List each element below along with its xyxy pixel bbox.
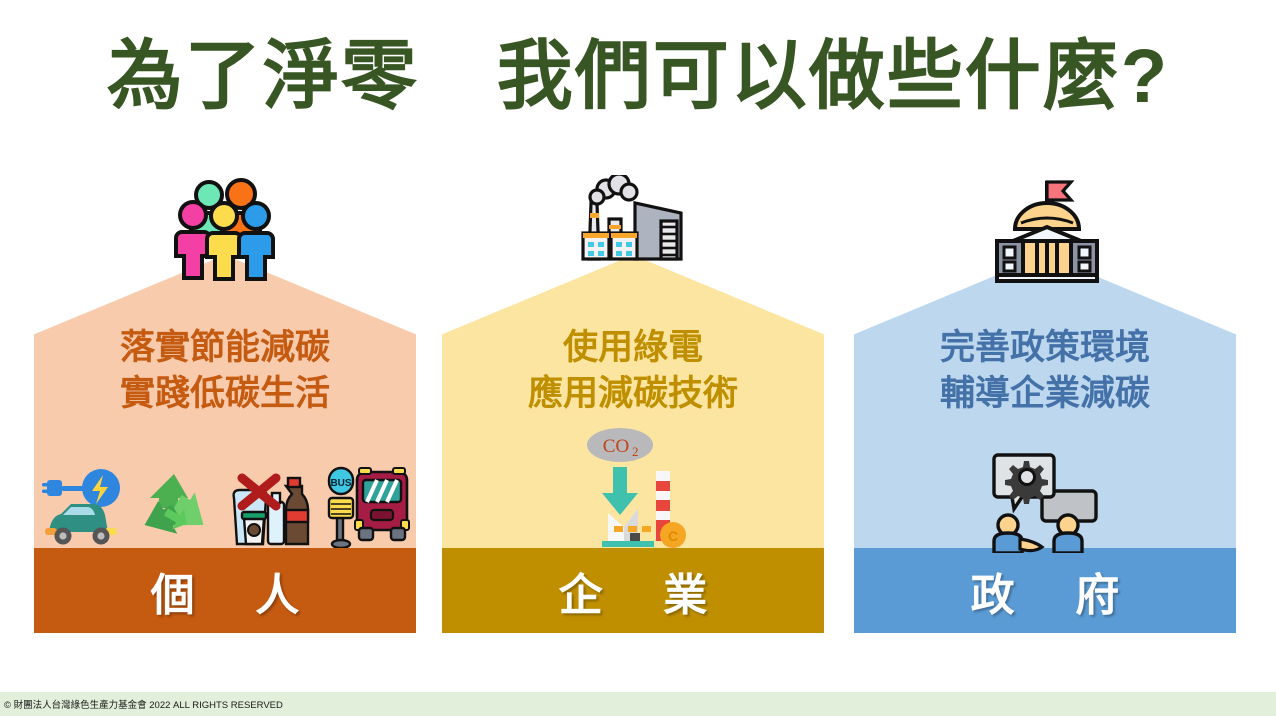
recycling-icon	[134, 468, 214, 548]
svg-text:C: C	[668, 528, 678, 544]
capitol-building-icon	[985, 175, 1105, 283]
bar-individual: 個 人	[34, 548, 416, 633]
svg-text:BUS: BUS	[331, 478, 352, 489]
consultation-gear-icon	[984, 449, 1106, 553]
svg-text:CO: CO	[603, 436, 629, 457]
headline-government: 完善政策環境 輔導企業減碳	[854, 325, 1236, 416]
column-government: 完善政策環境 輔導企業減碳 政 府	[854, 175, 1236, 633]
bar-label-individual: 個 人	[126, 559, 323, 623]
headline-enterprise: 使用綠電 應用減碳技術	[442, 325, 824, 416]
electric-car-charging-icon	[39, 466, 125, 548]
headline-individual: 落實節能減碳 實踐低碳生活	[34, 325, 416, 416]
slide-canvas: 為了淨零 我們可以做些什麼? 落實節能減碳	[0, 0, 1276, 716]
co2-reduction-factory-icon: CO 2 C	[568, 425, 698, 553]
page-title: 為了淨零 我們可以做些什麼?	[0, 36, 1276, 118]
people-group-icon	[165, 175, 285, 283]
footer-bar: © 財團法人台灣綠色生產力基金會 2022 ALL RIGHTS RESERVE…	[0, 692, 1276, 716]
bar-label-enterprise: 企 業	[534, 559, 731, 623]
factory-smokestack-icon	[573, 175, 693, 283]
svg-text:2: 2	[632, 444, 639, 459]
bar-government: 政 府	[854, 548, 1236, 633]
copyright-text: © 財團法人台灣綠色生產力基金會 2022 ALL RIGHTS RESERVE…	[0, 697, 283, 711]
icon-row-individual: BUS	[34, 448, 416, 548]
bar-label-government: 政 府	[946, 559, 1143, 623]
bus-stop-icon: BUS	[319, 460, 411, 548]
bar-enterprise: 企 業	[442, 548, 824, 633]
no-single-use-plastic-icon	[224, 462, 310, 548]
column-enterprise: 使用綠電 應用減碳技術 CO 2	[442, 175, 824, 633]
column-individual: 落實節能減碳 實踐低碳生活	[34, 175, 416, 633]
